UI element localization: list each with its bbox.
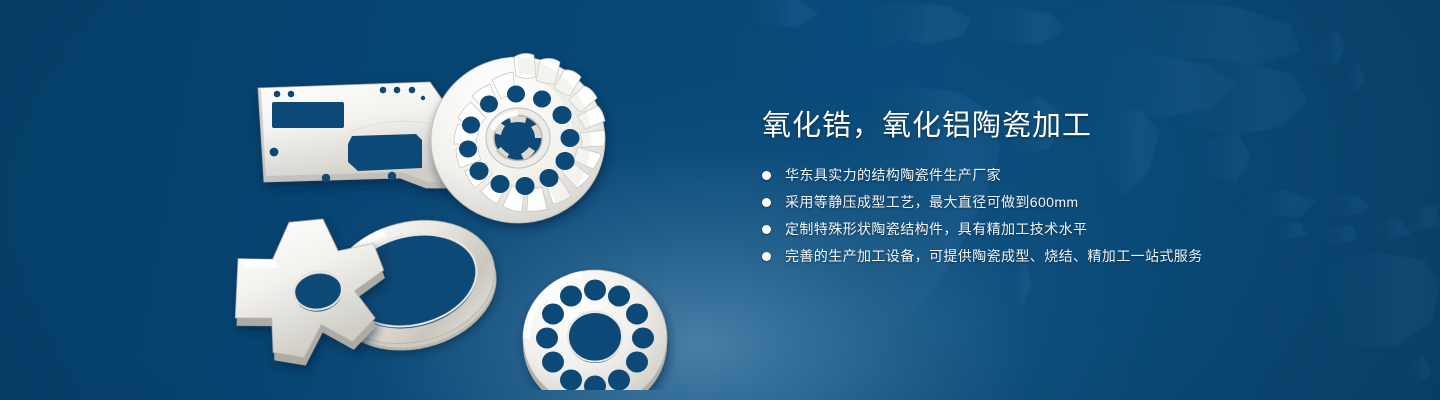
list-item: 定制特殊形状陶瓷结构件，具有精加工技术水平 bbox=[762, 220, 1382, 238]
ceramic-hole-disc bbox=[523, 270, 667, 390]
feature-text: 采用等静压成型工艺，最大直径可做到600mm bbox=[785, 193, 1078, 211]
list-item: 采用等静压成型工艺，最大直径可做到600mm bbox=[762, 193, 1382, 211]
banner-copy: 氧化锆，氧化铝陶瓷加工 华东具实力的结构陶瓷件生产厂家 采用等静压成型工艺，最大… bbox=[762, 108, 1382, 274]
feature-list: 华东具实力的结构陶瓷件生产厂家 采用等静压成型工艺，最大直径可做到600mm 定… bbox=[762, 166, 1382, 265]
bullet-dot-icon bbox=[762, 252, 771, 261]
feature-text: 完善的生产加工设备，可提供陶瓷成型、烧结、精加工一站式服务 bbox=[785, 247, 1203, 265]
ceramic-machined-plate bbox=[258, 82, 458, 188]
list-item: 完善的生产加工设备，可提供陶瓷成型、烧结、精加工一站式服务 bbox=[762, 247, 1382, 265]
hero-banner: 氧化锆，氧化铝陶瓷加工 华东具实力的结构陶瓷件生产厂家 采用等静压成型工艺，最大… bbox=[0, 0, 1440, 400]
page-title: 氧化锆，氧化铝陶瓷加工 bbox=[762, 108, 1382, 144]
feature-text: 华东具实力的结构陶瓷件生产厂家 bbox=[785, 166, 1001, 184]
ceramic-products-image bbox=[230, 40, 710, 390]
bullet-dot-icon bbox=[762, 198, 771, 207]
ceramic-impeller bbox=[431, 53, 605, 223]
feature-text: 定制特殊形状陶瓷结构件，具有精加工技术水平 bbox=[785, 220, 1087, 238]
list-item: 华东具实力的结构陶瓷件生产厂家 bbox=[762, 166, 1382, 184]
bullet-dot-icon bbox=[762, 225, 771, 234]
bullet-dot-icon bbox=[762, 171, 771, 180]
